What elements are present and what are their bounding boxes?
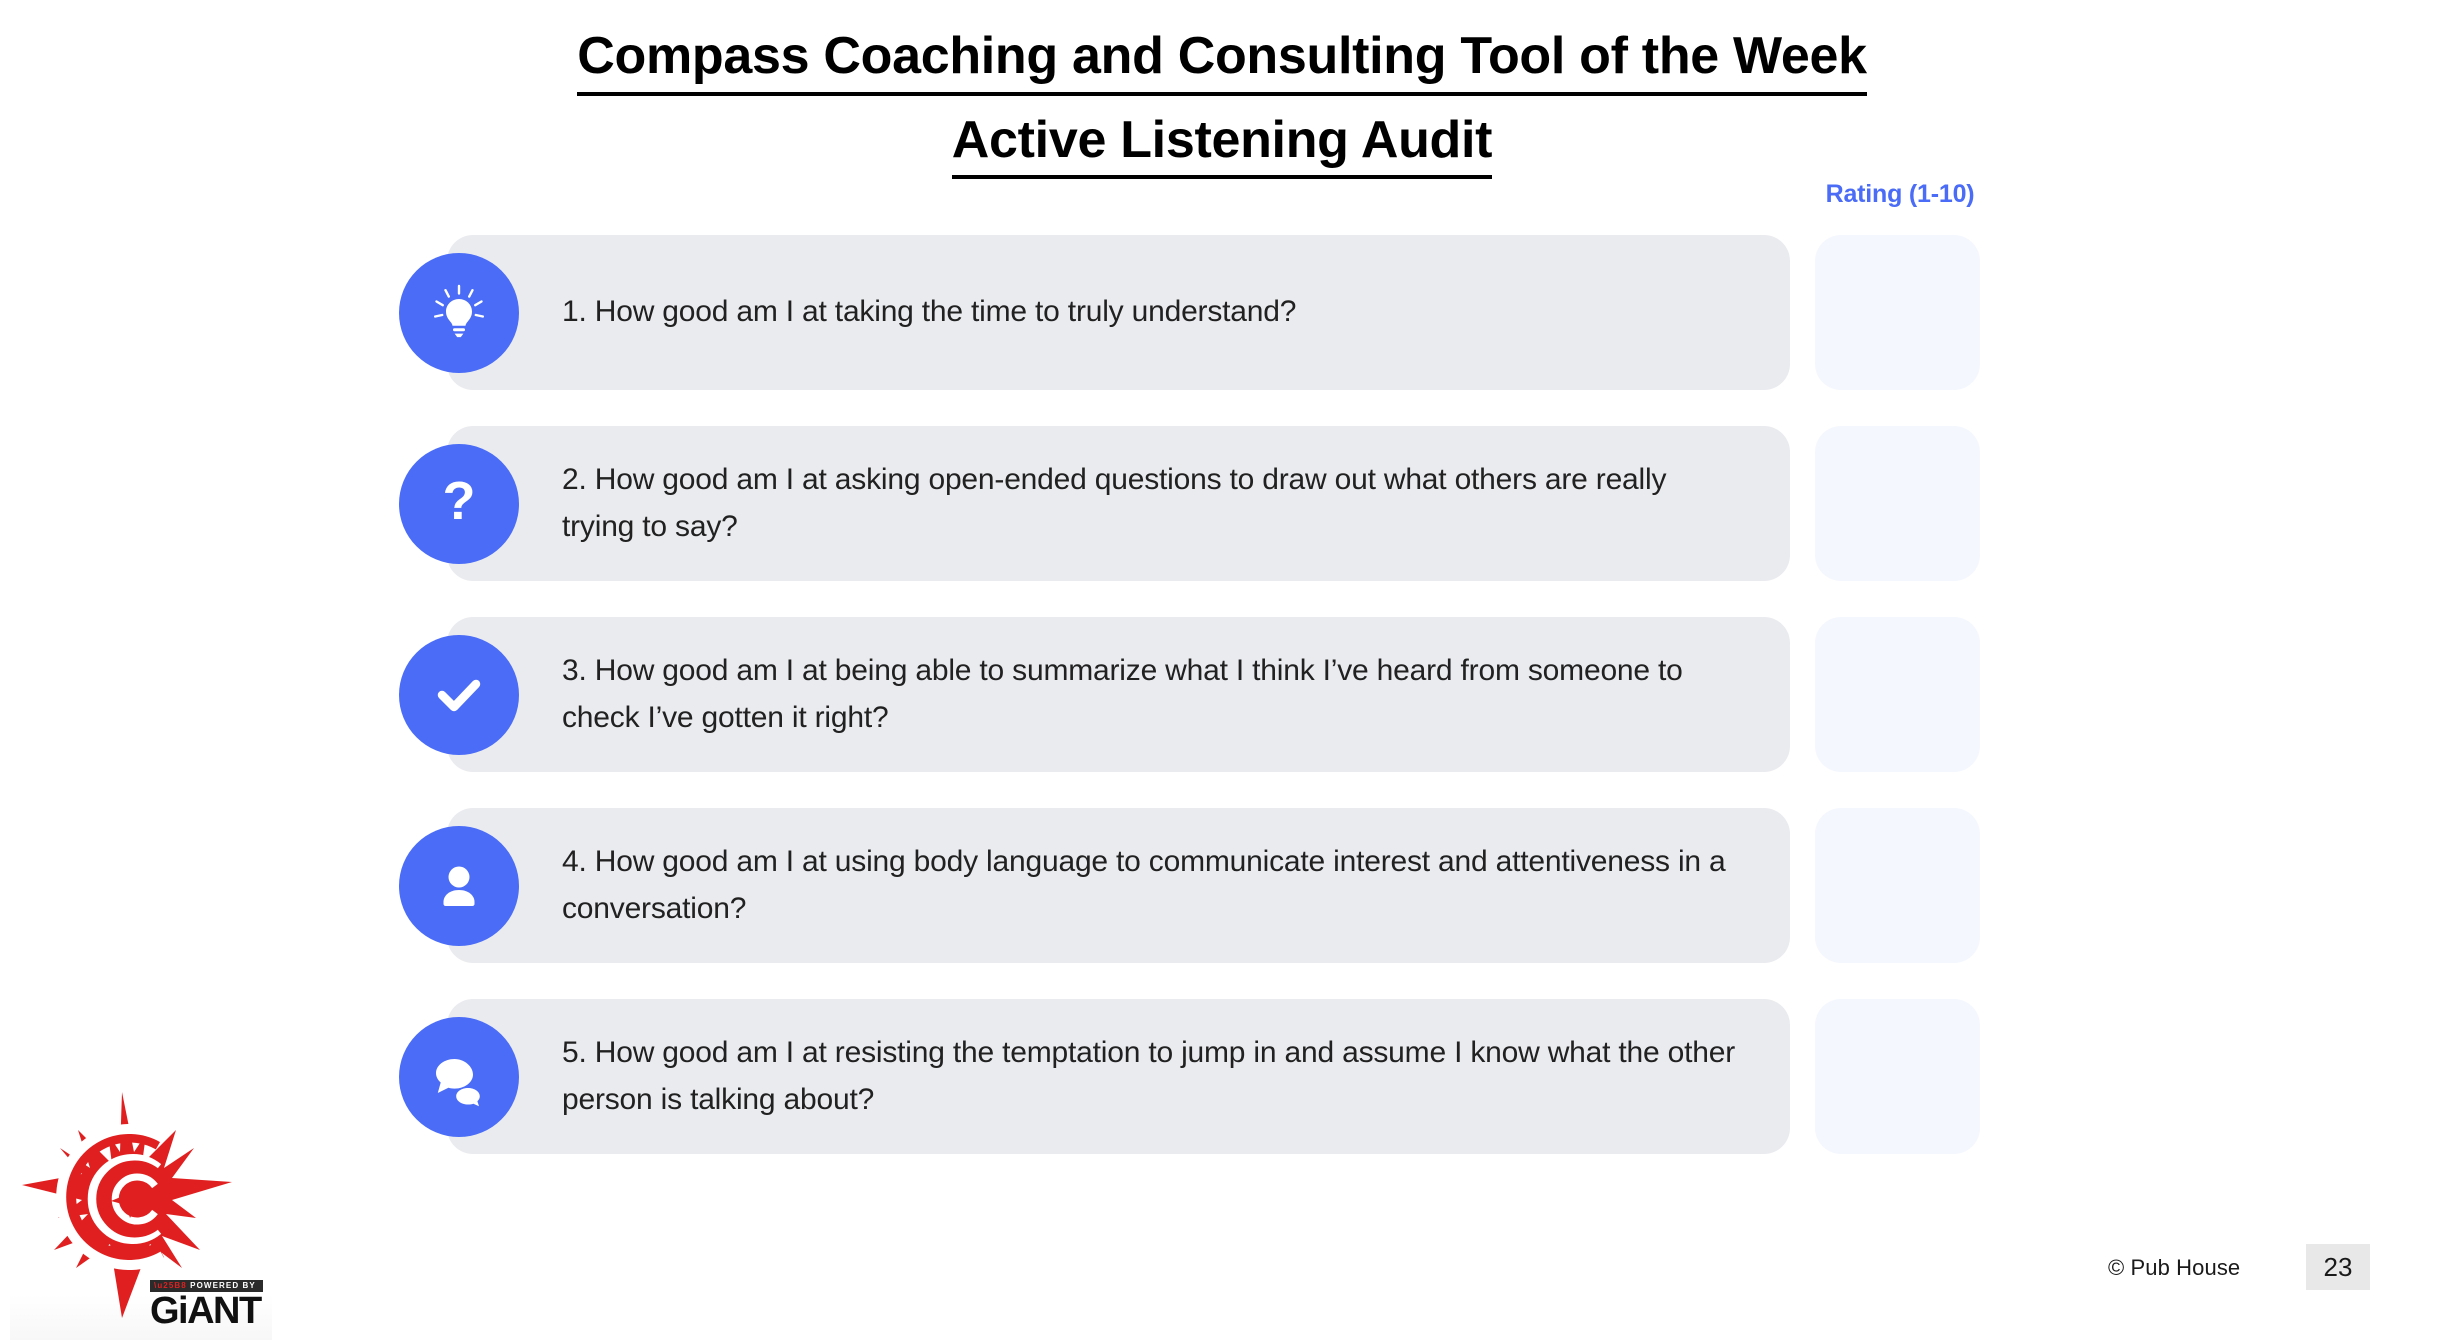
person-icon: [399, 826, 519, 946]
giant-logo: \u25B8 POWERED BY GiANT: [10, 1090, 272, 1340]
copyright-text: © Pub House: [2108, 1255, 2240, 1281]
svg-text:?: ?: [443, 473, 476, 531]
rating-input[interactable]: [1815, 617, 1980, 772]
list-item: 1. How good am I at taking the time to t…: [0, 235, 2444, 390]
rating-input[interactable]: [1815, 426, 1980, 581]
page-title: Compass Coaching and Consulting Tool of …: [0, 22, 2444, 179]
audit-question-list: 1. How good am I at taking the time to t…: [0, 235, 2444, 1190]
rating-input[interactable]: [1815, 235, 1980, 390]
question-text: 5. How good am I at resisting the tempta…: [562, 999, 1742, 1154]
giant-wordmark: GiANT: [150, 1293, 268, 1329]
question-mark-icon: ?: [399, 444, 519, 564]
title-line-1: Compass Coaching and Consulting Tool of …: [577, 22, 1867, 96]
question-text: 4. How good am I at using body language …: [562, 808, 1742, 963]
list-item: 4. How good am I at using body language …: [0, 808, 2444, 963]
list-item: 5. How good am I at resisting the tempta…: [0, 999, 2444, 1154]
list-item: ? 2. How good am I at asking open-ended …: [0, 426, 2444, 581]
rating-input[interactable]: [1815, 808, 1980, 963]
lightbulb-icon: [399, 253, 519, 373]
question-text: 1. How good am I at taking the time to t…: [562, 235, 1742, 390]
title-line-2: Active Listening Audit: [952, 106, 1492, 180]
chat-bubbles-icon: [399, 1017, 519, 1137]
powered-by-text: POWERED BY: [190, 1281, 256, 1290]
list-item: 3. How good am I at being able to summar…: [0, 617, 2444, 772]
question-text: 3. How good am I at being able to summar…: [562, 617, 1742, 772]
page-number: 23: [2306, 1244, 2370, 1290]
checkmark-icon: [399, 635, 519, 755]
rating-column-header: Rating (1-10): [1815, 180, 1985, 209]
slide: Compass Coaching and Consulting Tool of …: [0, 0, 2444, 1340]
question-text: 2. How good am I at asking open-ended qu…: [562, 426, 1742, 581]
giant-brand: \u25B8 POWERED BY GiANT: [150, 1275, 268, 1329]
rating-input[interactable]: [1815, 999, 1980, 1154]
